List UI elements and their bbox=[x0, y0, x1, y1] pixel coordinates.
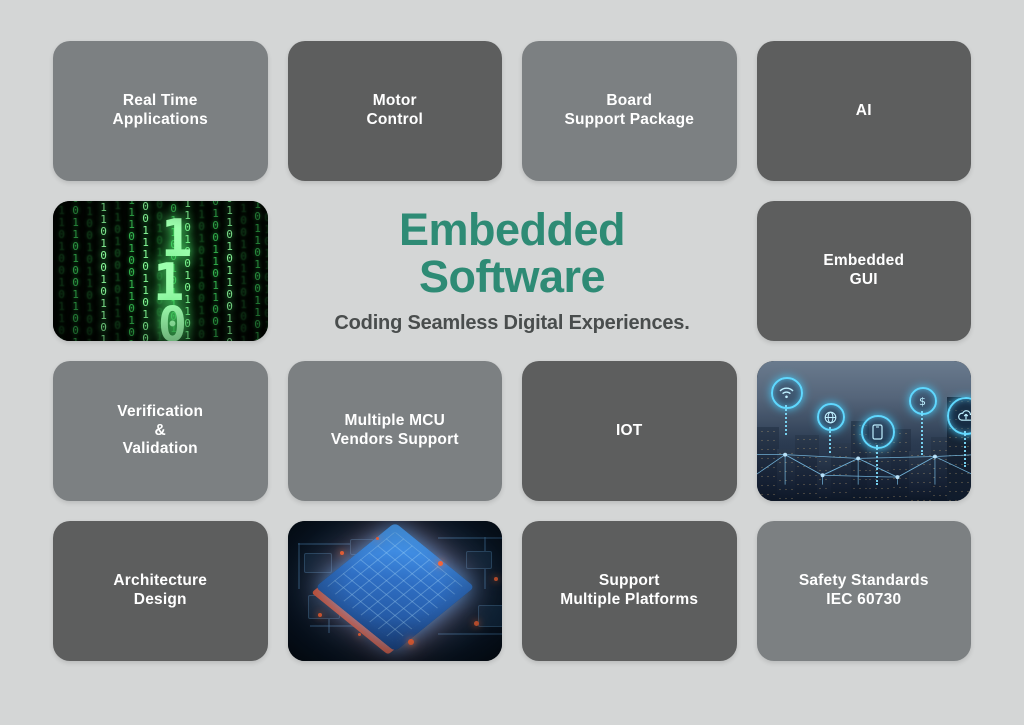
tile-iot[interactable]: IOT bbox=[522, 361, 737, 501]
tile-real-time-applications[interactable]: Real Time Applications bbox=[53, 41, 268, 181]
page-title: Embedded Software bbox=[399, 207, 625, 300]
tile-support-multiple-platforms[interactable]: Support Multiple Platforms bbox=[522, 521, 737, 661]
tile-label: Embedded GUI bbox=[813, 252, 914, 290]
tile-motor-control[interactable]: Motor Control bbox=[288, 41, 503, 181]
hero-panel: Embedded Software Coding Seamless Digita… bbox=[288, 201, 737, 341]
tile-verification-validation[interactable]: Verification & Validation bbox=[53, 361, 268, 501]
tile-ai[interactable]: AI bbox=[757, 41, 972, 181]
tile-safety-standards[interactable]: Safety Standards IEC 60730 bbox=[757, 521, 972, 661]
tile-cpu-chip-image[interactable] bbox=[288, 521, 503, 661]
tile-label: Board Support Package bbox=[554, 92, 704, 130]
tile-label: AI bbox=[846, 102, 882, 121]
tile-binary-code-image[interactable]: 0110100101101001011010010110 10011010011… bbox=[53, 201, 268, 341]
network-mesh bbox=[757, 361, 971, 485]
smart-city-network-image: $ bbox=[757, 361, 972, 501]
tile-multiple-mcu-vendors-support[interactable]: Multiple MCU Vendors Support bbox=[288, 361, 503, 501]
tile-embedded-gui[interactable]: Embedded GUI bbox=[757, 201, 972, 341]
tile-label: Safety Standards IEC 60730 bbox=[789, 572, 939, 610]
tile-architecture-design[interactable]: Architecture Design bbox=[53, 521, 268, 661]
tile-label: Verification & Validation bbox=[107, 403, 213, 460]
tile-smart-city-iot-image[interactable]: $ bbox=[757, 361, 972, 501]
tile-label: Support Multiple Platforms bbox=[550, 572, 708, 610]
tile-label: IOT bbox=[606, 422, 652, 441]
tile-board-support-package[interactable]: Board Support Package bbox=[522, 41, 737, 181]
infographic-grid: Real Time Applications Motor Control Boa… bbox=[53, 41, 971, 661]
glowing-cpu-chip-image bbox=[288, 521, 503, 661]
tile-label: Real Time Applications bbox=[103, 92, 218, 130]
tile-label: Motor Control bbox=[357, 92, 434, 130]
tile-label: Architecture Design bbox=[103, 572, 217, 610]
matrix-binary-rain-image: 0110100101101001011010010110 10011010011… bbox=[53, 201, 268, 341]
tile-label: Multiple MCU Vendors Support bbox=[321, 412, 469, 450]
page-subtitle: Coding Seamless Digital Experiences. bbox=[334, 312, 689, 335]
